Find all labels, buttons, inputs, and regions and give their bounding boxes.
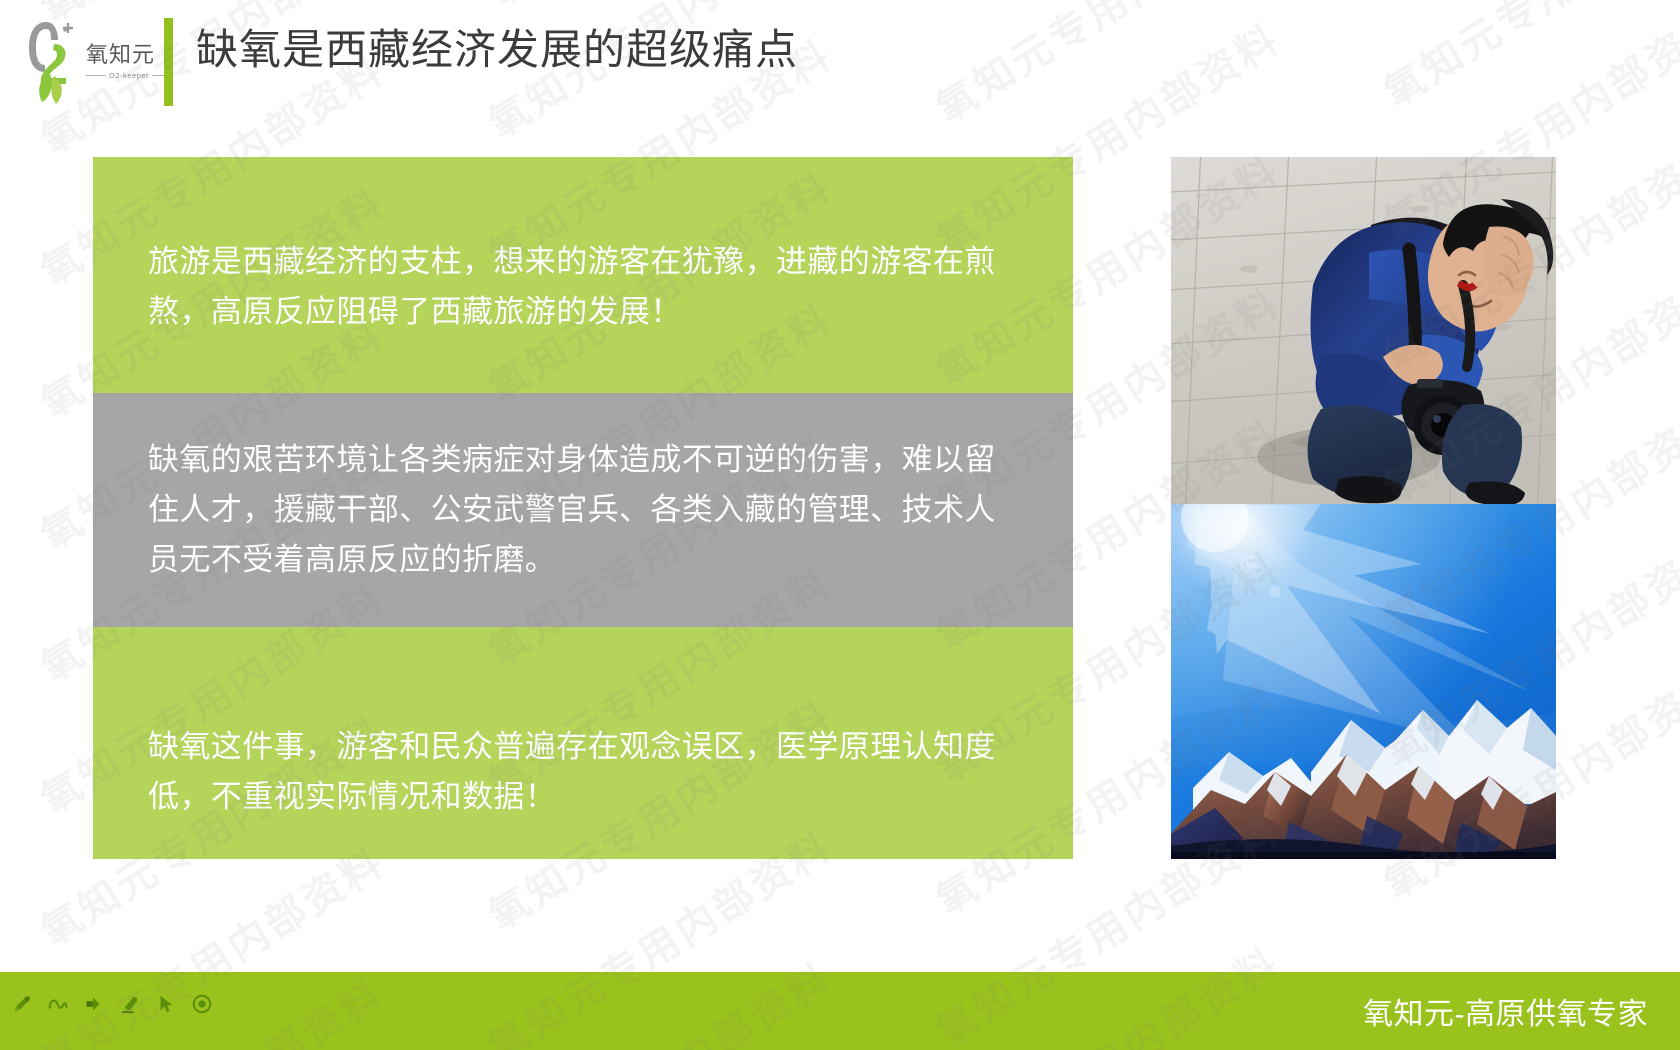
photo-column xyxy=(1171,157,1556,859)
content-block-tourism: 旅游是西藏经济的支柱，想来的游客在犹豫，进藏的游客在煎熬，高原反应阻碍了西藏旅游… xyxy=(93,157,1073,393)
content-block-text: 缺氧这件事，游客和民众普遍存在观念误区，医学原理认知度低，不重视实际情况和数据！ xyxy=(148,722,1018,822)
slide-header: 氧知元 O2-keeper 缺氧是西藏经济发展的超级痛点 xyxy=(0,0,1680,122)
page-title: 缺氧是西藏经济发展的超级痛点 xyxy=(196,24,798,77)
footer-bar: 氧知元-高原供氧专家 xyxy=(0,972,1680,1050)
pen-icon[interactable] xyxy=(8,990,36,1018)
squiggle-ink-icon[interactable] xyxy=(44,990,72,1018)
content-block-awareness: 缺氧这件事，游客和民众普遍存在观念误区，医学原理认知度低，不重视实际情况和数据！ xyxy=(93,627,1073,859)
logo-rule-left xyxy=(86,75,106,76)
slide-content: 旅游是西藏经济的支柱，想来的游客在犹豫，进藏的游客在煎熬，高原反应阻碍了西藏旅游… xyxy=(93,157,1463,859)
eraser-icon[interactable] xyxy=(116,990,144,1018)
title-accent-bar xyxy=(164,18,173,106)
tourist-altitude-sickness-photo xyxy=(1171,157,1556,504)
logo-wordmark: 氧知元 O2-keeper xyxy=(86,44,172,80)
ink-annotation-toolbar[interactable] xyxy=(8,990,216,1018)
content-block-text: 旅游是西藏经济的支柱，想来的游客在犹豫，进藏的游客在煎熬，高原反应阻碍了西藏旅游… xyxy=(148,237,1018,337)
logo-chinese-name: 氧知元 xyxy=(86,44,172,66)
laser-pointer-icon[interactable] xyxy=(188,990,216,1018)
content-block-text: 缺氧的艰苦环境让各类病症对身体造成不可逆的伤害，难以留住人才，援藏干部、公安武警… xyxy=(148,435,1018,586)
logo-english-row: O2-keeper xyxy=(86,71,172,80)
cursor-arrow-icon[interactable] xyxy=(152,990,180,1018)
pointer-hand-icon[interactable] xyxy=(80,990,108,1018)
logo-english-name: O2-keeper xyxy=(109,71,149,80)
tibet-snow-mountain-photo xyxy=(1171,504,1556,859)
content-block-talent: 缺氧的艰苦环境让各类病症对身体造成不可逆的伤害，难以留住人才，援藏干部、公安武警… xyxy=(93,393,1073,627)
o2-logo-icon xyxy=(24,14,86,106)
brand-logo: 氧知元 O2-keeper xyxy=(24,14,164,106)
footer-tagline: 氧知元-高原供氧专家 xyxy=(1363,989,1648,1033)
